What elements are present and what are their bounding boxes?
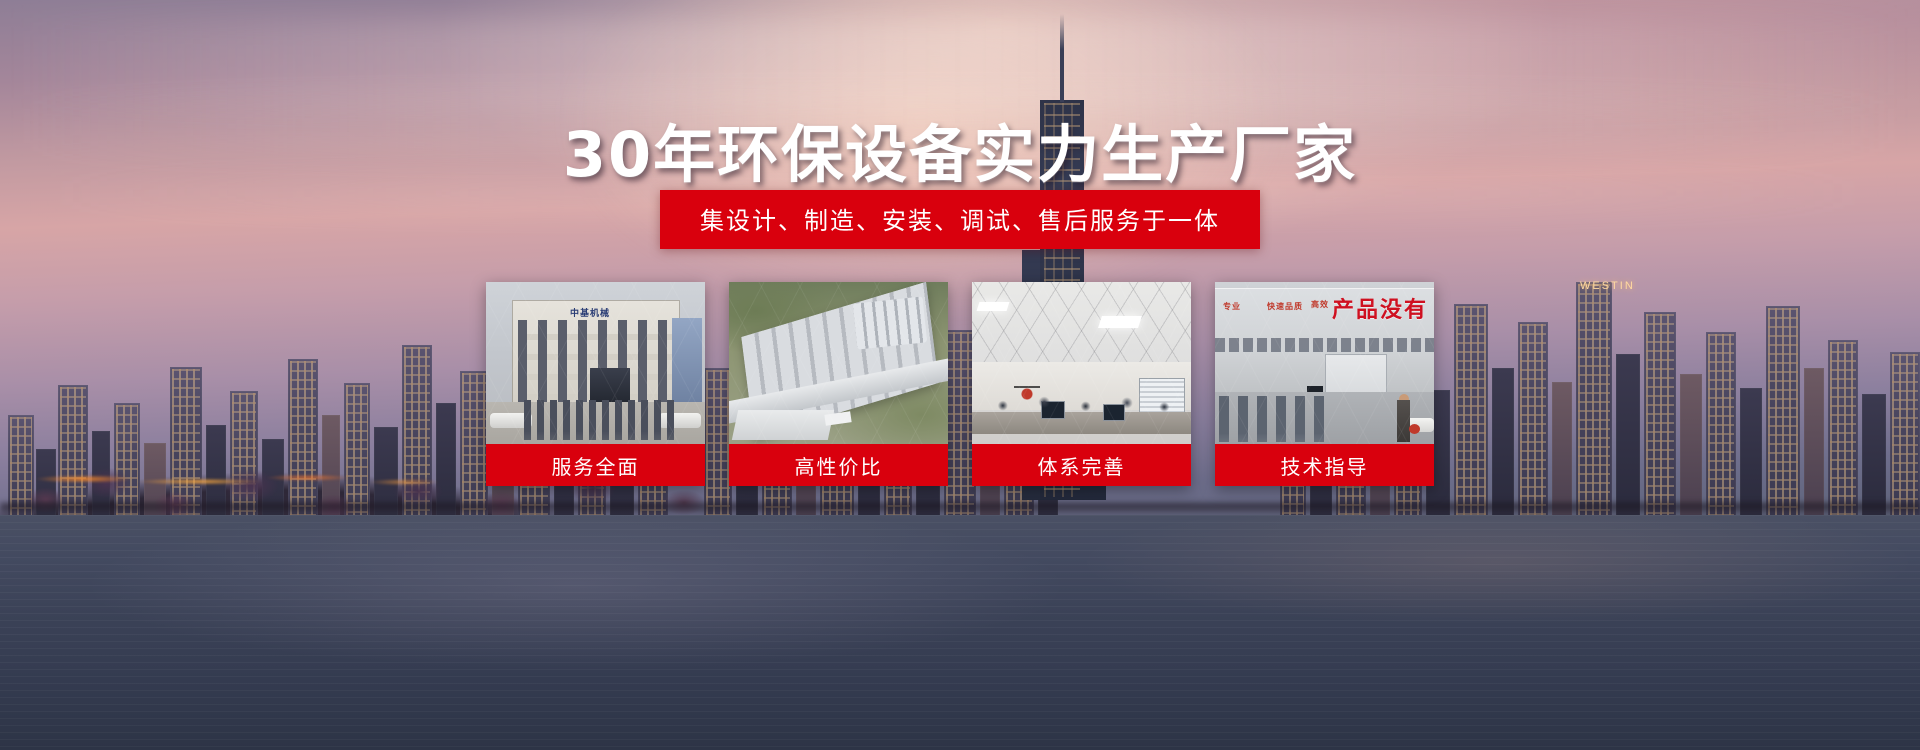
factory-wall-text: 产品没有: [1332, 292, 1428, 324]
card-photo-headquarters: 中基机械: [486, 282, 705, 444]
feature-card[interactable]: 专业 快速品质 高效 产品没有 技术指导: [1215, 282, 1434, 486]
card-caption: 高性价比: [729, 444, 948, 486]
card-photo-office: [972, 282, 1191, 444]
subtitle-container: 集设计、制造、安装、调试、售后服务于一体: [0, 190, 1920, 249]
factory-slogan: 高效: [1311, 300, 1329, 310]
feature-card[interactable]: 高性价比: [729, 282, 948, 486]
hero-banner: WESTIN 30年环保设备实力生产厂家 集设计、制造、安装、调试、售后服务于一…: [0, 0, 1920, 750]
feature-card[interactable]: 中基机械 服务全面: [486, 282, 705, 486]
card-caption: 服务全面: [486, 444, 705, 486]
page-title: 30年环保设备实力生产厂家: [0, 104, 1920, 194]
feature-card-list: 中基机械 服务全面: [486, 282, 1434, 486]
card-photo-production-line: [729, 282, 948, 444]
card-caption: 技术指导: [1215, 444, 1434, 486]
subtitle-badge: 集设计、制造、安装、调试、售后服务于一体: [660, 190, 1260, 249]
card-photo-workshop: 专业 快速品质 高效 产品没有: [1215, 282, 1434, 444]
factory-slogan: 专业: [1223, 302, 1241, 312]
card-caption: 体系完善: [972, 444, 1191, 486]
building-sign-text: 中基机械: [570, 306, 610, 319]
banner-content: 30年环保设备实力生产厂家 集设计、制造、安装、调试、售后服务于一体 中基机械: [0, 0, 1920, 750]
factory-slogan: 快速品质: [1267, 302, 1303, 312]
feature-card[interactable]: 体系完善: [972, 282, 1191, 486]
